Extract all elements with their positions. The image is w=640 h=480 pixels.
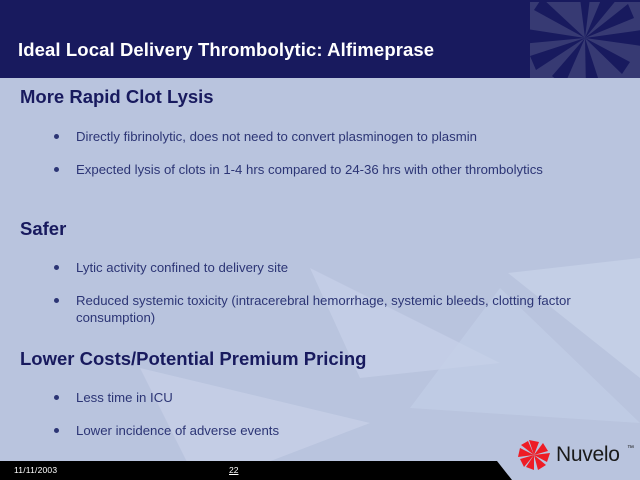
section-heading-3: Lower Costs/Potential Premium Pricing xyxy=(20,348,366,370)
bullet-dot-icon xyxy=(54,167,59,172)
bullet-dot-icon xyxy=(54,428,59,433)
bullet-item: Lytic activity confined to delivery site xyxy=(54,260,594,277)
bullet-text: Directly fibrinolytic, does not need to … xyxy=(76,129,594,146)
bullet-dot-icon xyxy=(54,134,59,139)
bullet-item: Directly fibrinolytic, does not need to … xyxy=(54,129,594,146)
presentation-slide: Ideal Local Delivery Thrombolytic: Alfim… xyxy=(0,0,640,480)
bullet-text: Less time in ICU xyxy=(76,390,594,407)
footer-page-number: 22 xyxy=(229,465,238,475)
bullet-item: Expected lysis of clots in 1-4 hrs compa… xyxy=(54,162,594,179)
bullet-item: Reduced systemic toxicity (intracerebral… xyxy=(54,293,594,326)
slide-content: More Rapid Clot Lysis Directly fibrinoly… xyxy=(0,78,640,458)
bullet-text: Lower incidence of adverse events xyxy=(76,423,594,440)
section-heading-2: Safer xyxy=(20,218,66,240)
bullet-text: Lytic activity confined to delivery site xyxy=(76,260,594,277)
section-heading-1: More Rapid Clot Lysis xyxy=(20,86,214,108)
bullet-text: Reduced systemic toxicity (intracerebral… xyxy=(76,293,594,326)
nuvelo-starburst-icon xyxy=(518,440,550,470)
nuvelo-logo: Nuvelo ™ xyxy=(518,438,636,472)
bullet-dot-icon xyxy=(54,265,59,270)
bullet-dot-icon xyxy=(54,298,59,303)
slide-header: Ideal Local Delivery Thrombolytic: Alfim… xyxy=(0,0,640,78)
footer-date: 11/11/2003 xyxy=(14,465,57,475)
header-starburst-icon xyxy=(530,0,640,78)
bullet-dot-icon xyxy=(54,395,59,400)
bullet-item: Lower incidence of adverse events xyxy=(54,423,594,440)
bullet-item: Less time in ICU xyxy=(54,390,594,407)
nuvelo-wordmark: Nuvelo xyxy=(556,443,620,467)
bullet-text: Expected lysis of clots in 1-4 hrs compa… xyxy=(76,162,594,179)
trademark-symbol: ™ xyxy=(627,445,634,452)
slide-title: Ideal Local Delivery Thrombolytic: Alfim… xyxy=(18,39,434,61)
